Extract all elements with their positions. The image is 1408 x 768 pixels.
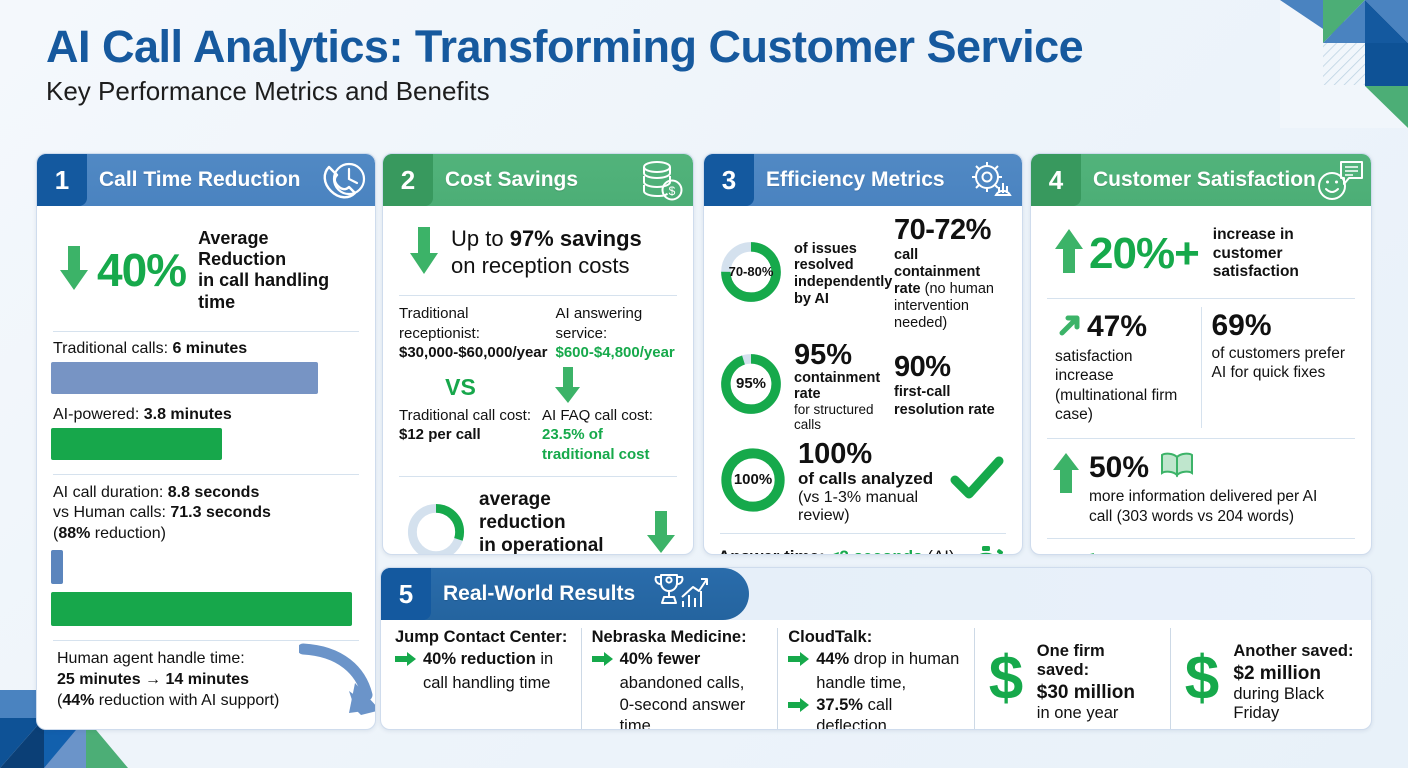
result-line: handle time, [788,673,964,694]
arrow-up-icon [1053,227,1085,280]
donut-value-label: 70-80% [718,239,784,305]
metric-description: of issues resolved independently by AI [794,241,894,308]
bar-ai-duration [51,550,63,584]
donut-chart-95: 95% [718,351,784,422]
result-nebraska-medicine: Nebraska Medicine: 40% fewer abandoned c… [581,628,778,730]
accuracy-row: 99.93% accuracy rate [1045,547,1357,555]
result-value: $30 million [1037,682,1161,704]
bar-label-prefix: AI-powered: [53,406,144,423]
results-columns: Jump Contact Center: 40% reduction in ca… [381,620,1371,730]
open-book-icon [1159,451,1195,484]
info-caption: more information delivered per AI call (… [1089,487,1317,526]
arrow-right-icon [395,651,417,673]
card-header: 1 Call Time Reduction [37,154,375,206]
donut-value-label: 95% [718,351,784,417]
arrow-down-icon [407,224,441,281]
bar-group-traditional: Traditional calls: 6 minutes [51,340,361,394]
result-value: $2 million [1233,663,1357,685]
smiley-chat-icon [1311,156,1365,209]
metric-row-containment: 95% 95% containment rate for structured … [718,337,1008,436]
card-number-badge: 5 [381,568,431,620]
card-cost-savings: 2 Cost Savings $ Up to 97% savings on re… [382,153,694,555]
result-title: CloudTalk: [788,628,964,647]
info-delivered-row: 50% more information delivered per AI ca… [1045,447,1357,528]
card-header: 2 Cost Savings $ [383,154,693,206]
card-real-world-results: 5 Real-World Results Jump Contact [380,567,1372,730]
divider [1047,538,1355,539]
trophy-chart-icon [649,571,709,618]
bar-group-ai: AI-powered: 3.8 minutes [51,406,361,460]
card-number-badge: 3 [704,154,754,206]
stat-value: 47% [1087,312,1147,342]
answer-time-text: Answer time: <2 seconds (AI) vs 15-30 se… [718,546,956,555]
result-line: 40% reduction in [395,649,571,673]
result-title: Jump Contact Center: [395,628,571,647]
arrow-right-icon [788,651,810,673]
hero-label: Up to 97% savings on reception costs [451,226,642,280]
divider [53,474,359,475]
card-header: 4 Customer Satisfaction [1031,154,1371,206]
card-title: Efficiency Metrics [766,168,945,192]
donut-chart-70-80: 70-80% [718,239,784,310]
coin-stack-dollar-icon: $ [637,159,685,208]
donut-chart-100: 100% [718,445,788,520]
compare-ai-answering-service: AI answering service: $600-$4,800/year [555,304,677,363]
result-caption: during Black Friday [1233,685,1357,725]
arrow-up-right-icon [1055,311,1083,344]
page-title: AI Call Analytics: Transforming Customer… [46,22,1083,72]
card-call-time-reduction: 1 Call Time Reduction 40% Average Reduct… [36,153,376,730]
satisfaction-two-column: 47% satisfaction increase (multinational… [1045,307,1357,429]
arrow-up-icon [1051,451,1081,500]
metric-caption: first-call resolution rate [894,384,1008,418]
donut-caption: average reduction in operational costs [479,489,633,555]
svg-text:$: $ [1185,649,1219,711]
hero-metric: 20%+ increase in customer satisfaction [1045,216,1357,290]
result-line: call handling time [395,673,571,694]
bar-label-value: 3.8 minutes [144,406,232,423]
hero-label: Average Reduction in call handling time [198,228,359,313]
hero-metric: Up to 97% savings on reception costs [397,216,679,287]
bar-traditional-calls [51,362,318,394]
gear-analytics-icon [966,159,1014,208]
metric-value: 70-72% [894,216,1008,245]
result-line: 40% fewer [592,649,768,673]
stat-caption: of customers prefer AI for quick fixes [1212,344,1348,383]
compare-ai-faq-call-cost: AI FAQ call cost: 23.5% of traditional c… [542,406,677,465]
target-icon [1053,551,1097,555]
stat-value: 69% [1212,311,1348,341]
card-number-badge: 2 [383,154,433,206]
result-title: One firm saved: [1037,642,1161,680]
cost-compare-top: Traditional receptionist: $30,000-$60,00… [397,304,679,363]
divider [399,476,677,477]
divider [720,533,1006,534]
curved-arrow-icon [299,643,376,730]
card-title: Call Time Reduction [99,168,300,192]
stopwatch-icon [964,542,1008,555]
cost-compare-bottom: Traditional call cost: $12 per call AI F… [397,406,679,465]
bar-label-prefix: Traditional calls: [53,340,172,357]
answer-time-row: Answer time: <2 seconds (AI) vs 15-30 se… [718,542,1008,555]
result-line: 0-second answer time [592,695,768,730]
compare-traditional-receptionist: Traditional receptionist: $30,000-$60,00… [399,304,547,363]
metric-value: 90% [894,353,1008,382]
metric-row-issues-resolved: 70-80% of issues resolved independently … [718,212,1008,337]
result-title: Another saved: [1233,642,1357,661]
card-number-badge: 1 [37,154,87,206]
phone-clock-icon [319,159,367,208]
donut-chart-30 [405,501,467,555]
card-customer-satisfaction: 4 Customer Satisfaction 20%+ increase in… [1030,153,1372,555]
page-header: AI Call Analytics: Transforming Customer… [46,22,1083,107]
metric-caption: call containment rate (no human interven… [894,247,1008,333]
arrow-down-icon [522,365,677,410]
result-one-firm-saved: $ One firm saved: $30 million in one yea… [974,628,1171,730]
dollar-sign-icon: $ [985,649,1027,716]
result-line: 37.5% call deflection [788,695,964,730]
result-cloudtalk: CloudTalk: 44% drop in human handle time… [777,628,974,730]
result-line: 44% drop in human [788,649,964,673]
arrow-right-icon [788,697,810,719]
hero-value: 40% [97,243,186,297]
metric-row-calls-analyzed: 100% 100% of calls analyzed (vs 1-3% man… [718,436,1008,529]
vs-label: VS [399,374,522,401]
arrow-right-icon [592,651,614,673]
donut-value-label: 100% [718,445,788,515]
hero-label: increase in customer satisfaction [1213,226,1355,282]
stat-satisfaction-increase: 47% satisfaction increase (multinational… [1045,307,1201,429]
divider [1047,438,1355,439]
result-jump-contact-center: Jump Contact Center: 40% reduction in ca… [385,628,581,730]
svg-text:$: $ [669,184,676,198]
arrow-down-icon [57,244,91,297]
duration-note: AI call duration: 8.8 seconds vs Human c… [53,483,361,544]
card-title: Cost Savings [445,168,578,192]
hero-value: 20%+ [1089,229,1199,279]
compare-traditional-call-cost: Traditional call cost: $12 per call [399,406,534,465]
divider [53,331,359,332]
arrow-down-icon [645,509,677,555]
page-subtitle: Key Performance Metrics and Benefits [46,76,1083,107]
divider [399,295,677,296]
card-header: 5 Real-World Results [381,568,1371,620]
result-another-saved: $ Another saved: $2 million during Black… [1170,628,1367,730]
result-title: Nebraska Medicine: [592,628,768,647]
metric-description: 95% containment rate for structured call… [794,341,894,432]
bar-ai-powered [51,428,222,460]
result-line: abandoned calls, [592,673,768,694]
info-value: 50% [1089,453,1149,483]
bar-label-value: 6 minutes [172,340,247,357]
handle-time-note: Human agent handle time: 25 minutes → 14… [57,649,361,711]
corner-decoration-top-right [1280,0,1408,128]
card-number-badge: 4 [1031,154,1081,206]
metric-description: 100% of calls analyzed (vs 1-3% manual r… [798,440,950,525]
result-caption: in one year [1037,704,1161,723]
card-title: Customer Satisfaction [1093,168,1316,192]
dollar-sign-icon: $ [1181,649,1223,716]
checkmark-icon [950,456,1008,509]
stat-customers-prefer-ai: 69% of customers prefer AI for quick fix… [1201,307,1358,429]
operational-cost-donut-row: 30% average reduction in operational cos… [397,485,679,555]
divider [1047,298,1355,299]
svg-text:$: $ [989,649,1023,711]
bar-human-duration [51,592,352,626]
card-header: 3 Efficiency Metrics [704,154,1022,206]
hero-metric: 40% Average Reduction in call handling t… [51,216,361,323]
card-title: Real-World Results [443,582,635,606]
stat-caption: satisfaction increase (multinational fir… [1055,347,1191,425]
card-efficiency-metrics: 3 Efficiency Metrics [703,153,1023,555]
divider [53,640,359,641]
